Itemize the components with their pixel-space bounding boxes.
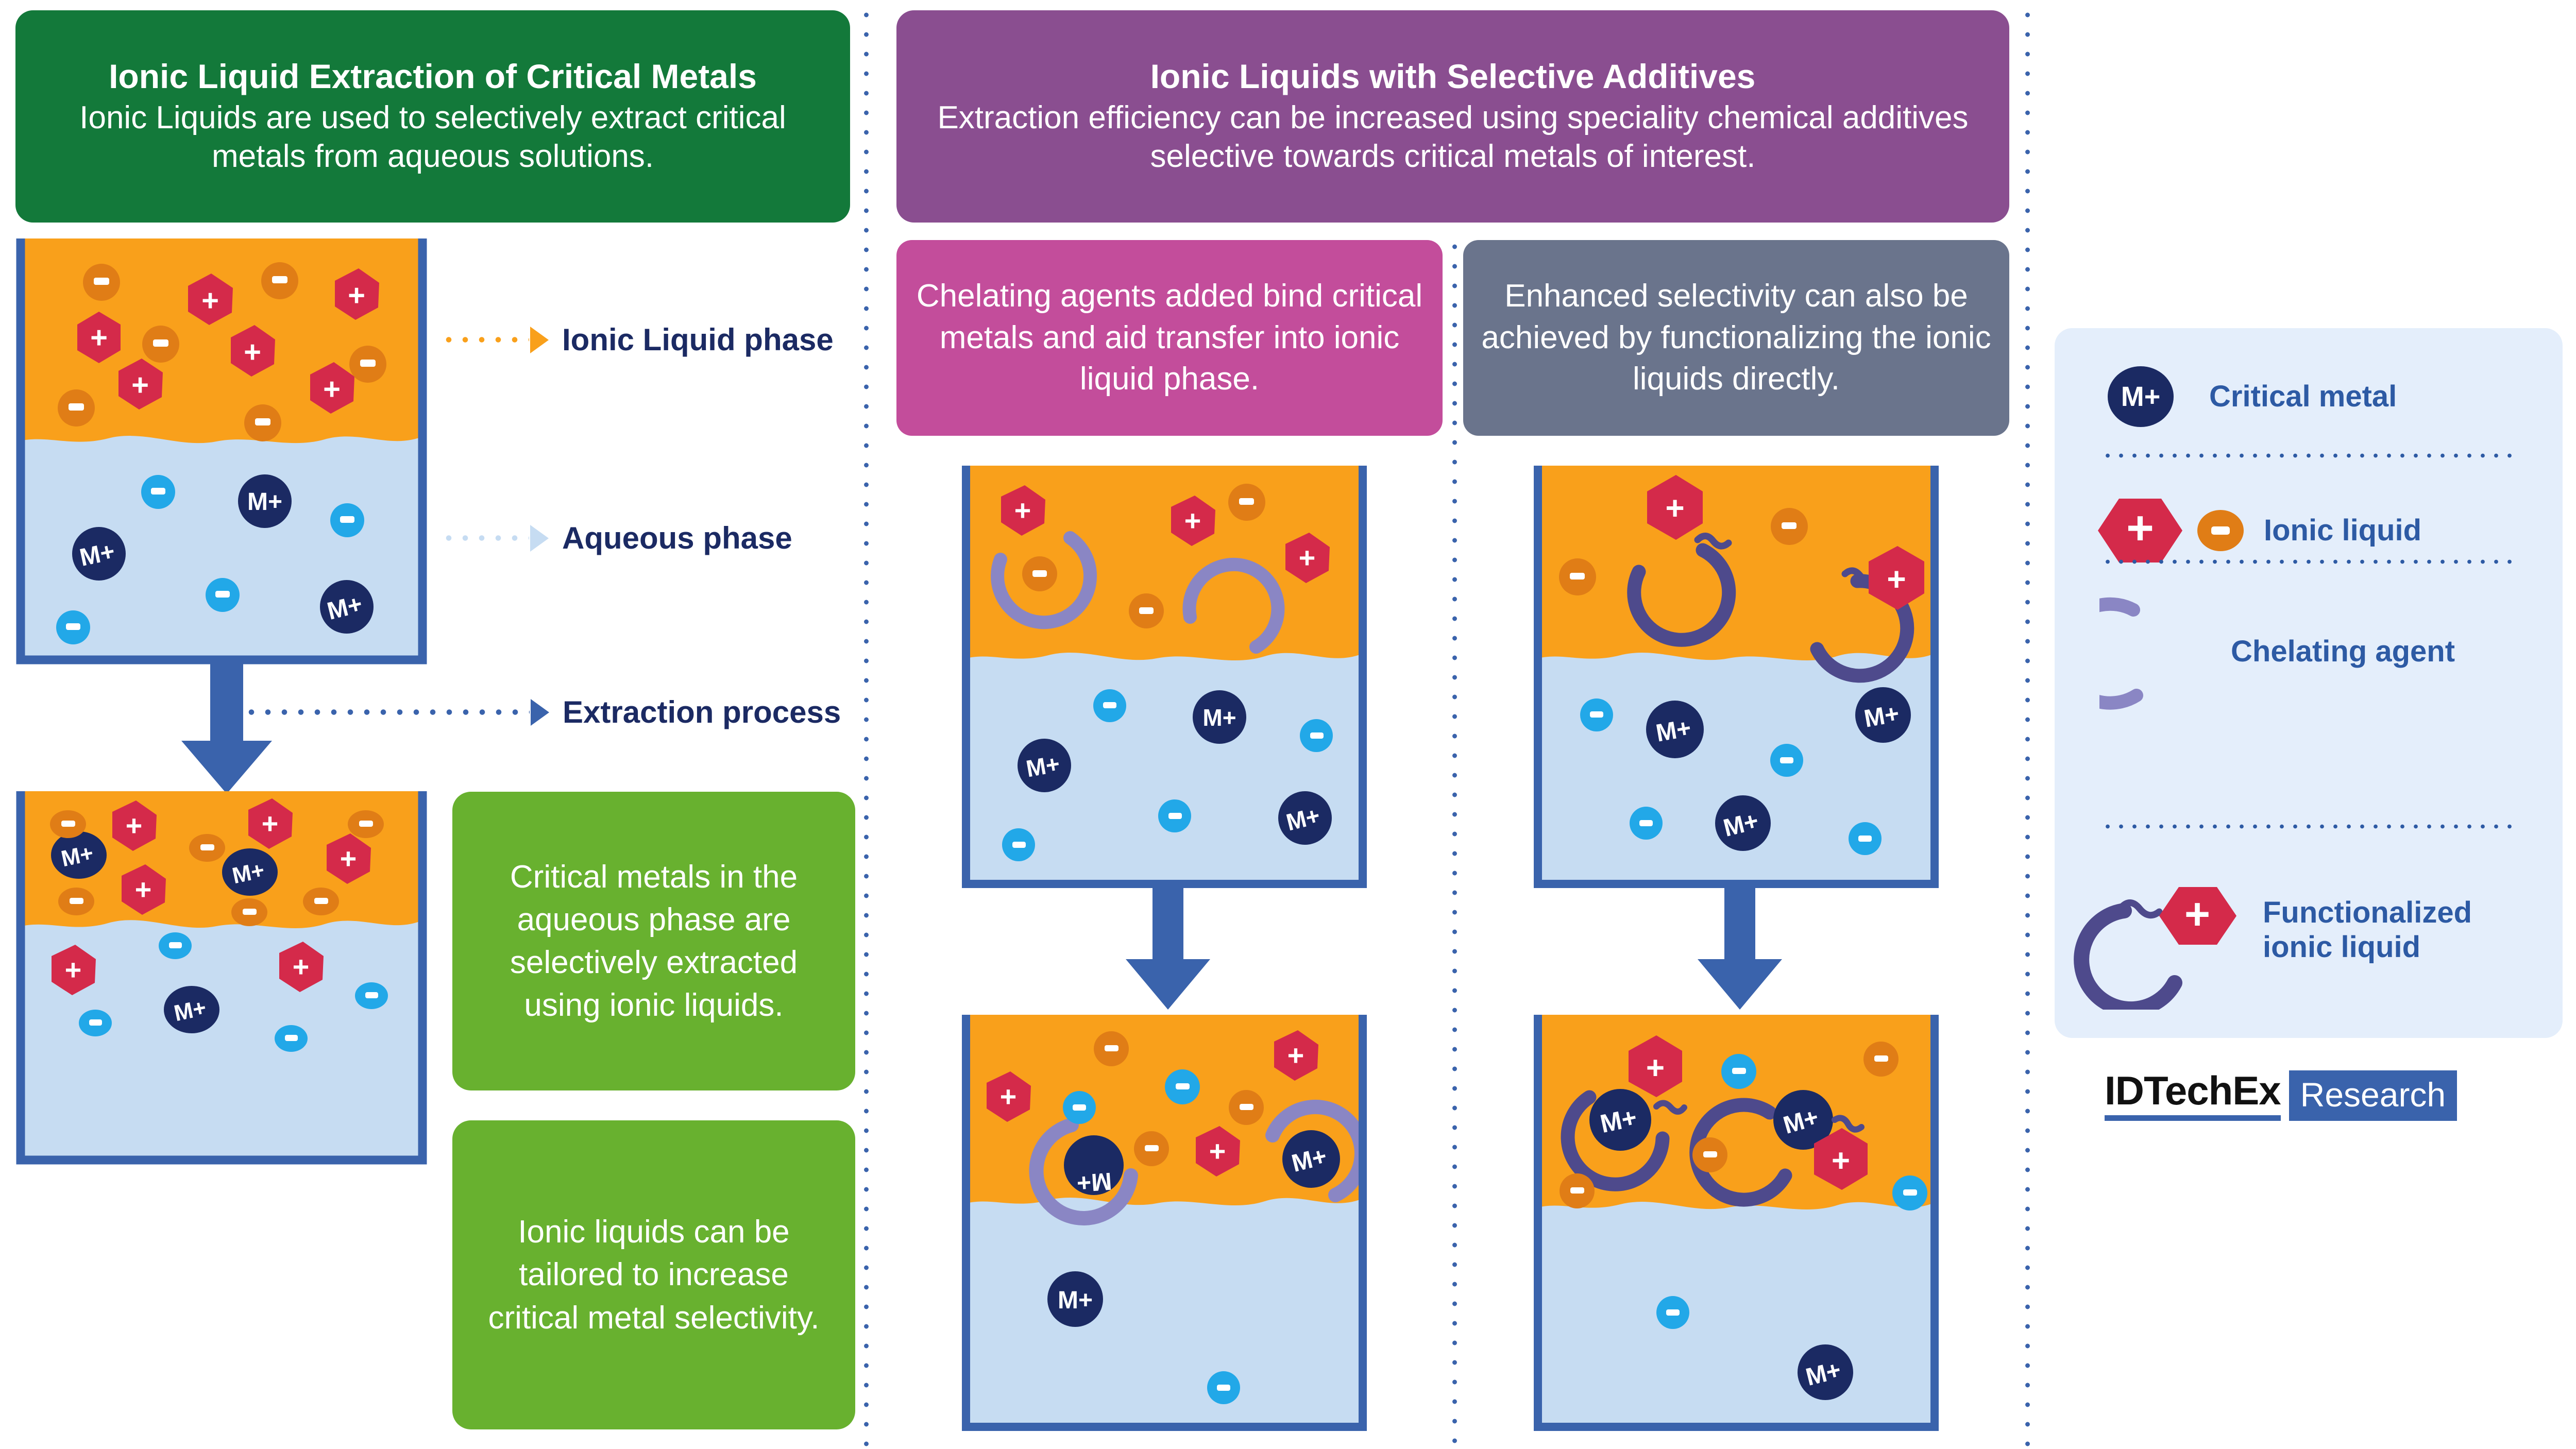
right-header-title: Ionic Liquids with Selective Additives (914, 57, 1992, 96)
idtechex-logo: IDTechEx Research (2105, 1070, 2457, 1121)
svg-text:+: + (201, 284, 219, 317)
caption-functionalized: Enhanced selectivity can also be achieve… (1463, 240, 2009, 436)
svg-text:+: + (340, 842, 357, 875)
pointer-arrowhead-aqueous (530, 525, 549, 552)
legend-item-critical-metal: M+ Critical metal (2102, 350, 2545, 443)
pointer-arrowhead-extraction (531, 699, 549, 726)
note-extraction: Critical metals in the aqueous phase are… (452, 792, 855, 1090)
left-header-banner: Ionic Liquid Extraction of Critical Meta… (15, 10, 850, 223)
right-header-banner: Ionic Liquids with Selective Additives E… (896, 10, 2009, 223)
infographic-canvas: Ionic Liquid Extraction of Critical Meta… (0, 0, 2576, 1449)
svg-text:+: + (135, 873, 152, 906)
legend-label-ionic-liquid: Ionic liquid (2264, 513, 2421, 548)
svg-text:+: + (323, 372, 341, 406)
svg-text:+: + (1665, 489, 1684, 526)
svg-text:+: + (1209, 1135, 1226, 1167)
pointer-label-extraction: Extraction process (563, 694, 841, 730)
note-tailoring-text: Ionic liquids can be tailored to increas… (470, 1211, 838, 1339)
svg-text:+: + (1287, 1039, 1304, 1071)
svg-text:+: + (293, 950, 310, 983)
svg-text:M+: M+ (1058, 1287, 1093, 1314)
metal-ion-icon: M+ (2102, 363, 2179, 431)
pointer-aqueous-phase: Aqueous phase (440, 520, 792, 556)
beaker-right-top: + + M+ (1528, 463, 1945, 890)
pointer-dots-aqueous (440, 535, 529, 541)
right-header-subtitle: Extraction efficiency can be increased u… (914, 99, 1992, 176)
svg-text:M+: M+ (2121, 381, 2161, 412)
svg-text:M+: M+ (1202, 704, 1236, 731)
caption-functionalized-text: Enhanced selectivity can also be achieve… (1479, 276, 1994, 400)
pointer-label-aqueous: Aqueous phase (562, 520, 792, 556)
legend-item-chelating-agent: Chelating agent (2092, 577, 2545, 726)
caption-chelating-text: Chelating agents added bind critical met… (912, 276, 1427, 400)
svg-text:+: + (131, 368, 149, 402)
svg-text:+: + (2184, 890, 2210, 939)
logo-underline (2105, 1115, 2281, 1121)
beaker-mid-top: +++ M+ M+ M+ (956, 463, 1373, 890)
svg-text:+: + (2126, 502, 2154, 554)
extraction-arrow-left (155, 661, 309, 795)
divider-left-middle (863, 5, 869, 1447)
svg-text:+: + (244, 335, 261, 369)
pointer-arrowhead-ionic (530, 327, 549, 353)
svg-text:+: + (1014, 494, 1031, 526)
legend-item-ionic-liquid: + Ionic liquid (2091, 479, 2544, 582)
svg-text:+: + (262, 807, 279, 840)
extraction-arrow-right (1672, 887, 1816, 1011)
ionic-liquid-icon: + (2091, 479, 2244, 582)
svg-text:+: + (1184, 504, 1201, 537)
divider-right-legend (2025, 5, 2030, 1447)
svg-text:+: + (1887, 560, 1906, 598)
note-extraction-text: Critical metals in the aqueous phase are… (470, 856, 838, 1027)
chelating-agent-icon (2092, 587, 2226, 716)
svg-text:+: + (126, 809, 143, 842)
divider-middle-right (1452, 237, 1458, 1447)
svg-text:M+: M+ (1076, 1167, 1113, 1197)
svg-text:+: + (1000, 1080, 1017, 1113)
logo-research-badge: Research (2289, 1070, 2457, 1121)
svg-text:+: + (1646, 1050, 1665, 1086)
legend-item-functionalized-ionic-liquid: + Functionalized ionic liquid (2071, 845, 2555, 1015)
svg-text:+: + (348, 279, 365, 312)
caption-chelating-agents: Chelating agents added bind critical met… (896, 240, 1443, 436)
legend-separator-2 (2101, 559, 2516, 564)
svg-text:+: + (1299, 541, 1316, 574)
functionalized-ionic-liquid-icon: + (2071, 850, 2257, 1010)
logo-wordmark-block: IDTechEx (2105, 1070, 2289, 1121)
legend-separator-1 (2101, 453, 2516, 458)
beaker-right-bottom: M+ + M+ + (1528, 1005, 1945, 1436)
left-header-subtitle: Ionic Liquids are used to selectively ex… (33, 99, 833, 176)
extraction-arrow-middle (1100, 887, 1244, 1011)
legend-separator-3 (2101, 824, 2516, 829)
left-header-title: Ionic Liquid Extraction of Critical Meta… (33, 57, 833, 96)
logo-wordmark: IDTechEx (2105, 1070, 2281, 1111)
beaker-left-top: +++ +++ M+ (10, 234, 433, 664)
svg-text:+: + (1832, 1143, 1850, 1179)
pointer-extraction-process: Extraction process (227, 694, 841, 730)
legend-label-functionalized-ionic-liquid: Functionalized ionic liquid (2263, 895, 2505, 965)
legend-label-chelating-agent: Chelating agent (2231, 634, 2455, 669)
legend-label-critical-metal: Critical metal (2209, 379, 2397, 414)
note-tailoring: Ionic liquids can be tailored to increas… (452, 1120, 855, 1429)
svg-text:+: + (65, 953, 82, 986)
pointer-ionic-liquid-phase: Ionic Liquid phase (440, 322, 834, 357)
beaker-left-bottom: ++++ M+ M+ (10, 787, 433, 1168)
beaker-mid-bottom: M+ M+ +++ (956, 1005, 1373, 1436)
pointer-dots-ionic (440, 337, 529, 343)
pointer-label-ionic: Ionic Liquid phase (562, 322, 834, 357)
svg-text:+: + (90, 321, 108, 354)
svg-text:M+: M+ (247, 488, 282, 516)
